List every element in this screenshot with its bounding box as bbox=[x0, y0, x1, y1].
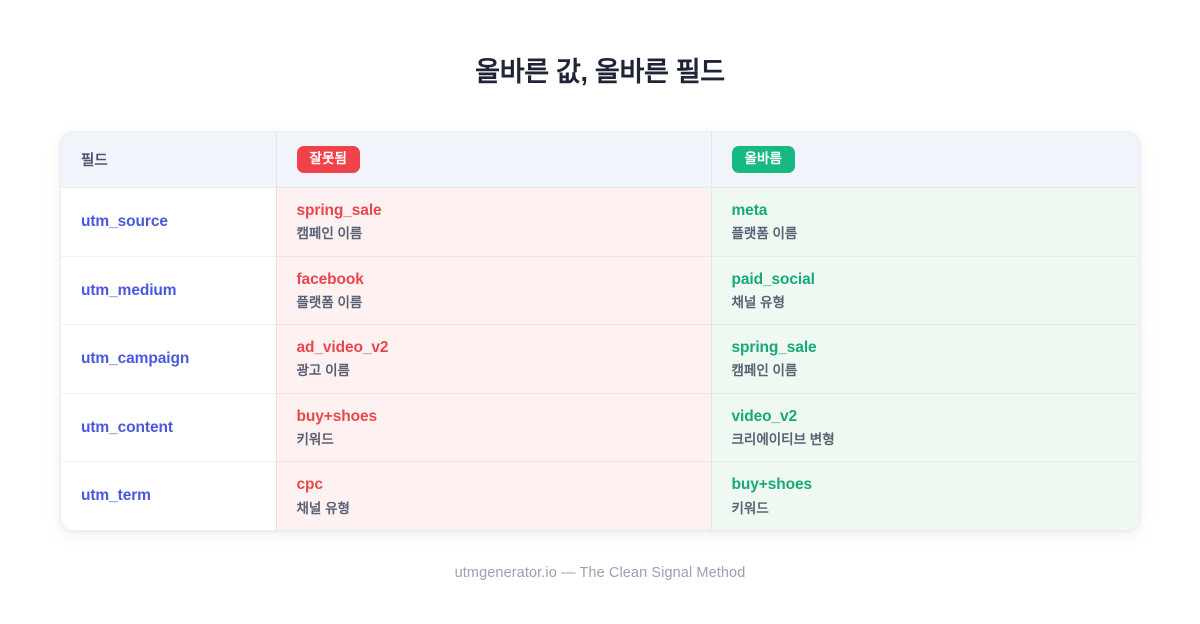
right-caption: 크리에이티브 변형 bbox=[732, 431, 1122, 449]
column-header-field: 필드 bbox=[61, 132, 276, 188]
status-badge-wrong: 잘못됨 bbox=[297, 146, 361, 173]
wrong-caption: 캠페인 이름 bbox=[297, 225, 691, 243]
right-value: buy+shoes bbox=[732, 475, 1122, 495]
footer-attribution: utmgenerator.io — The Clean Signal Metho… bbox=[455, 565, 746, 581]
table-row: utm_term cpc 채널 유형 buy+shoes 키워드 bbox=[61, 462, 1140, 531]
wrong-value-cell: spring_sale 캠페인 이름 bbox=[276, 188, 711, 257]
right-value-cell: meta 플랫폼 이름 bbox=[711, 188, 1140, 257]
wrong-value-cell: cpc 채널 유형 bbox=[276, 462, 711, 531]
right-caption: 키워드 bbox=[732, 500, 1122, 518]
right-value: video_v2 bbox=[732, 407, 1122, 427]
wrong-value-cell: ad_video_v2 광고 이름 bbox=[276, 325, 711, 394]
wrong-caption: 광고 이름 bbox=[297, 362, 691, 380]
table-row: utm_content buy+shoes 키워드 video_v2 크리에이티… bbox=[61, 393, 1140, 462]
field-name-cell: utm_campaign bbox=[61, 325, 276, 394]
wrong-value: cpc bbox=[297, 475, 691, 495]
comparison-table-card: 필드 잘못됨 올바름 utm_source spring_sale 캠페인 이름 bbox=[60, 131, 1140, 532]
right-value-cell: buy+shoes 키워드 bbox=[711, 462, 1140, 531]
page-title: 올바른 값, 올바른 필드 bbox=[475, 56, 725, 90]
right-value: meta bbox=[732, 201, 1122, 221]
utm-comparison-table: 필드 잘못됨 올바름 utm_source spring_sale 캠페인 이름 bbox=[61, 132, 1140, 531]
wrong-caption: 채널 유형 bbox=[297, 500, 691, 518]
wrong-caption: 키워드 bbox=[297, 431, 691, 449]
wrong-value: ad_video_v2 bbox=[297, 338, 691, 358]
right-value-cell: spring_sale 캠페인 이름 bbox=[711, 325, 1140, 394]
right-caption: 캠페인 이름 bbox=[732, 362, 1122, 380]
right-caption: 채널 유형 bbox=[732, 294, 1122, 312]
column-header-right: 올바름 bbox=[711, 132, 1140, 188]
right-value: paid_social bbox=[732, 270, 1122, 290]
table-row: utm_source spring_sale 캠페인 이름 meta 플랫폼 이… bbox=[61, 188, 1140, 257]
field-name-cell: utm_content bbox=[61, 393, 276, 462]
wrong-caption: 플랫폼 이름 bbox=[297, 294, 691, 312]
status-badge-right: 올바름 bbox=[732, 146, 796, 173]
table-header: 필드 잘못됨 올바름 bbox=[61, 132, 1140, 188]
right-value-cell: video_v2 크리에이티브 변형 bbox=[711, 393, 1140, 462]
column-header-wrong: 잘못됨 bbox=[276, 132, 711, 188]
table-header-row: 필드 잘못됨 올바름 bbox=[61, 132, 1140, 188]
wrong-value: spring_sale bbox=[297, 201, 691, 221]
field-name-cell: utm_term bbox=[61, 462, 276, 531]
wrong-value-cell: facebook 플랫폼 이름 bbox=[276, 256, 711, 325]
page-root: 올바른 값, 올바른 필드 필드 잘못됨 올바름 utm_source bbox=[0, 0, 1200, 624]
table-row: utm_campaign ad_video_v2 광고 이름 spring_sa… bbox=[61, 325, 1140, 394]
table-body: utm_source spring_sale 캠페인 이름 meta 플랫폼 이… bbox=[61, 188, 1140, 531]
right-caption: 플랫폼 이름 bbox=[732, 225, 1122, 243]
wrong-value-cell: buy+shoes 키워드 bbox=[276, 393, 711, 462]
field-name-cell: utm_medium bbox=[61, 256, 276, 325]
right-value-cell: paid_social 채널 유형 bbox=[711, 256, 1140, 325]
wrong-value: facebook bbox=[297, 270, 691, 290]
field-name-cell: utm_source bbox=[61, 188, 276, 257]
right-value: spring_sale bbox=[732, 338, 1122, 358]
wrong-value: buy+shoes bbox=[297, 407, 691, 427]
table-row: utm_medium facebook 플랫폼 이름 paid_social 채… bbox=[61, 256, 1140, 325]
